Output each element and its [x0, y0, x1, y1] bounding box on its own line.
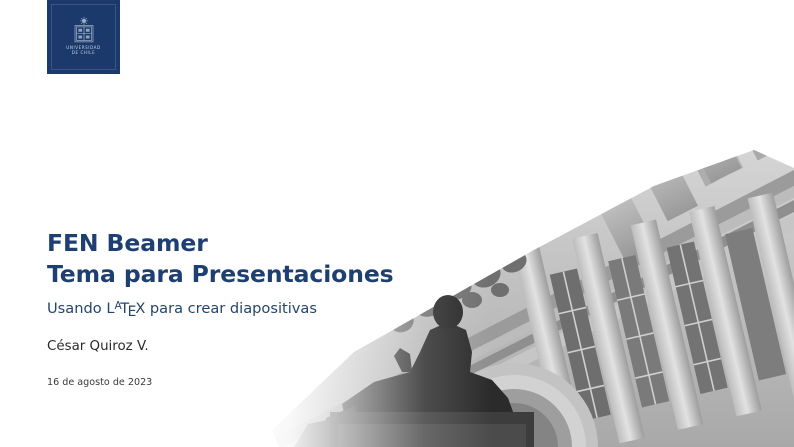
title-block: FEN Beamer Tema para Presentaciones Usan… — [47, 228, 394, 389]
latex-e: E — [128, 304, 137, 320]
slide-author: César Quiroz V. — [47, 339, 394, 355]
subtitle-text-before: Usando — [47, 300, 106, 317]
latex-x: X — [135, 300, 145, 317]
slide-title-line-1: FEN Beamer — [47, 228, 394, 259]
slide-date: 16 de agosto de 2023 — [47, 377, 394, 389]
subtitle-text-after: para crear diapositivas — [145, 300, 317, 317]
universidad-de-chile-logo: UNIVERSIDAD DE CHILE — [47, 0, 120, 74]
slide-subtitle: Usando LATEX para crear diapositivas — [47, 300, 394, 318]
logo-caption: UNIVERSIDAD DE CHILE — [47, 46, 120, 55]
logo-caption-line-2: DE CHILE — [47, 51, 120, 56]
slide-title-line-2: Tema para Presentaciones — [47, 259, 394, 290]
title-slide: UNIVERSIDAD DE CHILE FEN Beamer Tema par… — [0, 0, 794, 447]
latex-a: A — [114, 300, 121, 312]
university-crest-icon — [69, 16, 99, 46]
latex-logo: LATEX — [106, 300, 145, 318]
